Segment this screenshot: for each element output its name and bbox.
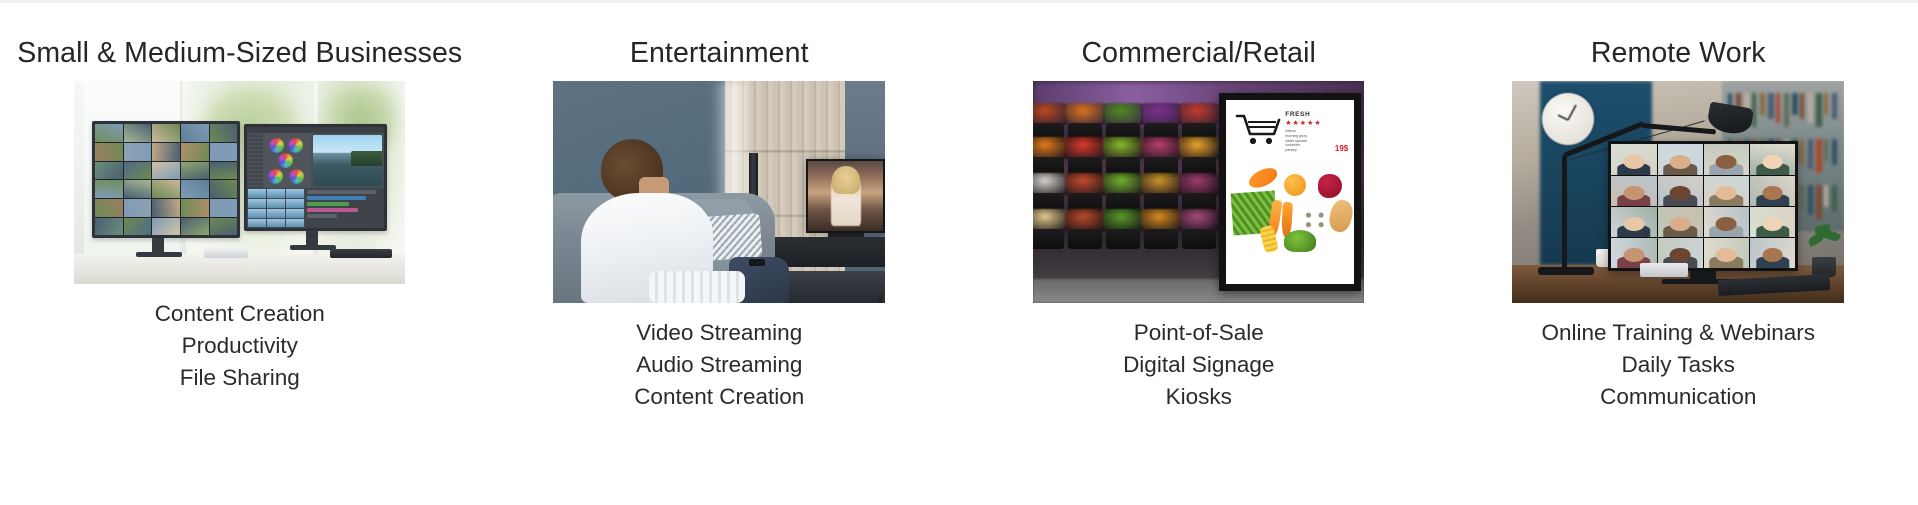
use-case-column-remote-work: Remote Work (1439, 0, 1918, 505)
potted-plant-icon (1806, 221, 1842, 277)
signage-headline: FRESH (1285, 111, 1347, 118)
video-call-participant-tile (1750, 238, 1795, 268)
caption-list: Point-of-Sale Digital Signage Kiosks (1123, 317, 1274, 412)
caption-line: Online Training & Webinars (1542, 317, 1815, 349)
caption-list: Online Training & Webinars Daily Tasks C… (1542, 317, 1815, 412)
column-title: Entertainment (630, 38, 809, 69)
video-call-participant-tile (1658, 144, 1703, 174)
video-call-participant-tile (1704, 176, 1749, 206)
caption-line: Productivity (182, 330, 298, 362)
use-case-panel: Small & Medium-Sized Businesses (0, 0, 1918, 505)
video-call-participant-tile (1658, 176, 1703, 206)
use-case-grid: Small & Medium-Sized Businesses (0, 0, 1918, 505)
caption-list: Video Streaming Audio Streaming Content … (634, 317, 804, 412)
video-call-participant-tile (1611, 176, 1656, 206)
column-title: Small & Medium-Sized Businesses (17, 38, 462, 69)
video-call-participant-tile (1658, 207, 1703, 237)
use-case-column-smb: Small & Medium-Sized Businesses (0, 0, 480, 505)
caption-line: Video Streaming (636, 317, 802, 349)
video-call-participant-tile (1750, 176, 1795, 206)
use-case-column-entertainment: Entertainment (480, 0, 960, 505)
use-case-column-retail: Commercial/Retail (959, 0, 1439, 505)
shopping-cart-icon (1235, 112, 1281, 146)
video-call-participant-tile (1750, 207, 1795, 237)
caption-list: Content Creation Productivity File Shari… (155, 298, 325, 393)
caption-line: Daily Tasks (1622, 349, 1735, 381)
video-call-participant-tile (1611, 144, 1656, 174)
digital-signage-display: FRESH ★★★★★ lettuce morning glory water … (1219, 93, 1361, 291)
caption-line: Audio Streaming (636, 349, 802, 381)
video-call-participant-tile (1704, 207, 1749, 237)
home-office-video-call-photo (1512, 81, 1844, 303)
caption-line: Content Creation (634, 381, 804, 413)
dual-monitor-workstation-photo (74, 81, 405, 284)
retail-digital-signage-photo: FRESH ★★★★★ lettuce morning glory water … (1033, 81, 1364, 303)
caption-line: Digital Signage (1123, 349, 1274, 381)
caption-line: Content Creation (155, 298, 325, 330)
video-call-participant-tile (1704, 144, 1749, 174)
caption-line: File Sharing (180, 362, 300, 394)
caption-line: Point-of-Sale (1134, 317, 1264, 349)
living-room-tv-photo (553, 81, 885, 303)
caption-line: Kiosks (1166, 381, 1232, 413)
video-call-participant-tile (1611, 207, 1656, 237)
video-call-monitor (1608, 141, 1798, 271)
column-title: Remote Work (1591, 38, 1766, 69)
column-title: Commercial/Retail (1081, 38, 1316, 69)
video-call-participant-tile (1750, 144, 1795, 174)
signage-price: 19$ (1335, 144, 1348, 153)
video-call-participant-tile (1704, 238, 1749, 268)
signage-star-rating: ★★★★★ (1285, 119, 1347, 127)
caption-line: Communication (1600, 381, 1756, 413)
